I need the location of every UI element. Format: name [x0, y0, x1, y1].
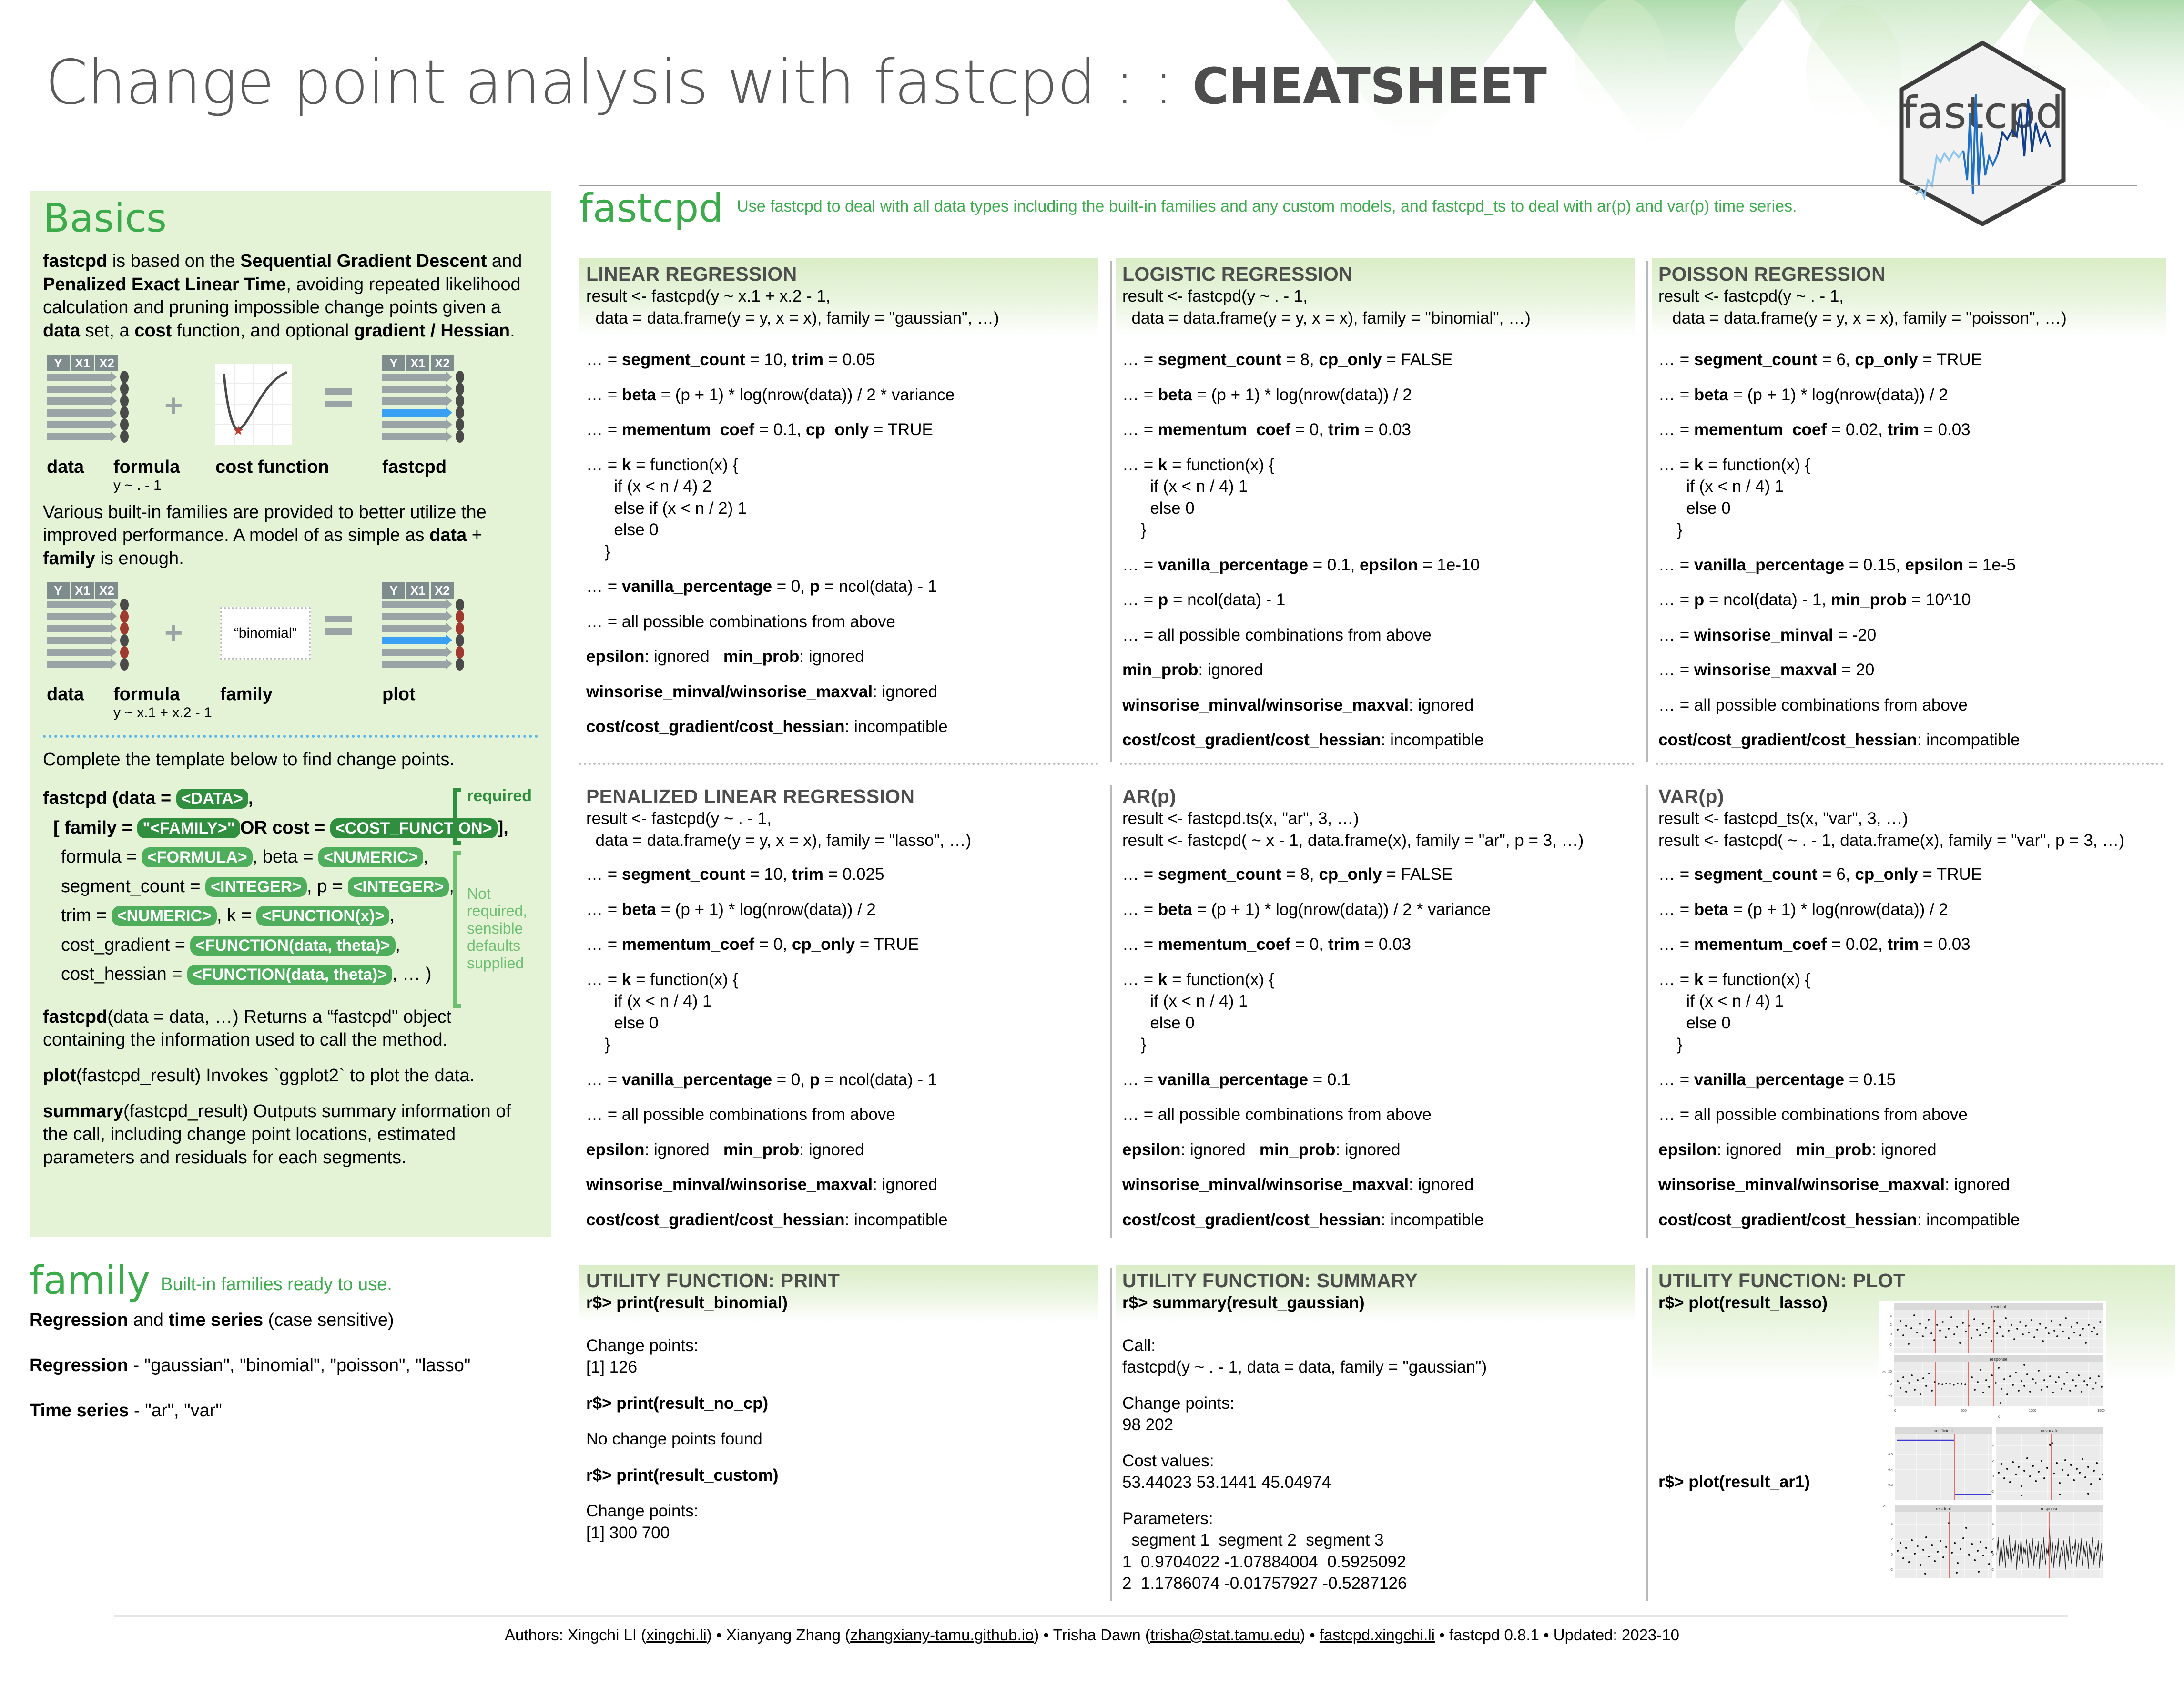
title-divider	[579, 185, 2137, 186]
panel-option: … = all possible combinations from above	[1658, 1104, 2175, 1126]
svg-text:-2: -2	[1889, 1343, 1892, 1347]
caption-formula-2: formula y ~ x.1 + x.2 - 1	[113, 684, 212, 721]
diagram-data-plus-cost: YX1X2 + ★	[43, 355, 538, 455]
print-output-2: No change points found	[586, 1428, 1098, 1450]
footer-link-trisha-email[interactable]: trisha@stat.tamu.edu	[1150, 1626, 1300, 1644]
lasso-ggplot-svg: residual 420-2 response	[1879, 1301, 2106, 1420]
svg-text:-2: -2	[1890, 1568, 1893, 1572]
panel-code: result <- fastcpd(y ~ . - 1, data = data…	[1658, 285, 2159, 329]
panel-option: winsorise_minval/winsorise_maxval: ignor…	[1122, 694, 1635, 716]
family-line-3: Time series - "ar", "var"	[30, 1401, 551, 1421]
panel-options: … = segment_count = 10, trim = 0.025… = …	[586, 864, 1098, 1230]
svg-text:y: y	[1881, 1371, 1886, 1373]
fastcpd-section-subheading: Use fastcpd to deal with all data types …	[737, 191, 1797, 216]
panel-option: … = mementum_coef = 0.02, trim = 0.03	[1658, 934, 2175, 956]
data-table-pictogram-1: YX1X2	[47, 355, 129, 443]
page-title: Change point analysis with fastcpd : : C…	[45, 52, 1808, 138]
summary-command: r$> summary(result_gaussian)	[1122, 1292, 1628, 1314]
summary-output-parameters: Parameters: segment 1 segment 2 segment …	[1122, 1508, 1635, 1595]
chip-p-integer: <INTEGER>	[348, 877, 449, 897]
panel-option: epsilon: ignored min_prob: ignored	[586, 646, 1098, 668]
svg-text:-2: -2	[1991, 1568, 1994, 1572]
chip-k-function: <FUNCTION(x)>	[256, 906, 389, 926]
template-line-1: fastcpd (data = <DATA>,	[43, 784, 538, 813]
basics-heading: Basics	[43, 199, 538, 238]
panel-option: … = mementum_coef = 0.1, cp_only = TRUE	[586, 419, 1098, 441]
panel-title: UTILITY FUNCTION: PRINT	[586, 1270, 1092, 1292]
required-bracket	[453, 788, 461, 845]
panel-option: … = mementum_coef = 0, cp_only = TRUE	[586, 934, 1098, 956]
divider-col1-col2-mid	[1110, 785, 1112, 1238]
panel-title: LOGISTIC REGRESSION	[1122, 263, 1628, 285]
data-table-pictogram-2: YX1X2	[47, 582, 129, 670]
panel-option: winsorise_minval/winsorise_maxval: ignor…	[586, 1174, 1098, 1196]
template-line-5: trim = <NUMERIC>, k = <FUNCTION(x)>,	[43, 901, 538, 931]
svg-text:0: 0	[1992, 1475, 1994, 1478]
panel-option: … = segment_count = 6, cp_only = TRUE	[1658, 864, 2175, 885]
summary-output-call: Call: fastcpd(y ~ . - 1, data = data, fa…	[1122, 1335, 1635, 1378]
panel-poisson-regression: POISSON REGRESSION result <- fastcpd(y ~…	[1658, 261, 2166, 764]
basics-paragraph-2: Various built-in families are provided t…	[43, 501, 538, 570]
panel-option: … = k = function(x) { if (x < n / 4) 2 e…	[586, 454, 1098, 563]
panel-title: VAR(p)	[1658, 785, 2175, 808]
divider-col2-col3-mid	[1646, 785, 1648, 1238]
panel-linear-regression: LINEAR REGRESSION result <- fastcpd(y ~ …	[586, 261, 1098, 751]
print-command-1: r$> print(result_binomial)	[586, 1292, 1092, 1314]
panel-title: POISSON REGRESSION	[1658, 263, 2159, 285]
svg-text:★: ★	[232, 423, 244, 438]
svg-text:0.3: 0.3	[1888, 1484, 1893, 1487]
footer-mid-1: ) • Xianyang Zhang (	[707, 1626, 850, 1644]
panel-logistic-regression: LOGISTIC REGRESSION result <- fastcpd(y …	[1122, 261, 1635, 764]
panel-option: … = k = function(x) { if (x < n / 4) 1 e…	[1122, 969, 1639, 1056]
svg-text:-2: -2	[1991, 1490, 1994, 1494]
svg-text:500: 500	[1961, 1409, 1967, 1413]
panel-code: result <- fastcpd(y ~ . - 1, data = data…	[586, 808, 1098, 851]
footer-link-fastcpd-site[interactable]: fastcpd.xingchi.li	[1320, 1626, 1435, 1644]
chip-formula: <FORMULA>	[142, 847, 253, 867]
template-line-7: cost_hessian = <FUNCTION(data, theta)>, …	[43, 960, 538, 989]
svg-text:2: 2	[1992, 1460, 1994, 1463]
panel-option: … = all possible combinations from above	[1122, 1104, 1639, 1126]
panel-title: PENALIZED LINEAR REGRESSION	[586, 785, 1098, 808]
panel-option: … = vanilla_percentage = 0.15	[1658, 1069, 2175, 1091]
panel-utility-summary: UTILITY FUNCTION: SUMMARY r$> summary(re…	[1122, 1268, 1635, 1609]
desc-summary: summary(fastcpd_result) Outputs summary …	[43, 1100, 538, 1169]
panel-options: … = segment_count = 8, cp_only = FALSE… …	[1122, 864, 1639, 1230]
required-label: required	[467, 783, 532, 809]
svg-text:4: 4	[1992, 1523, 1994, 1526]
template-line-6: cost_gradient = <FUNCTION(data, theta)>,	[43, 931, 538, 960]
panel-option: … = p = ncol(data) - 1, min_prob = 10^10	[1658, 589, 2166, 611]
panel-ar-p: AR(p) result <- fastcpd.ts(x, "ar", 3, ……	[1122, 785, 1639, 1244]
panel-option: min_prob: ignored	[1122, 659, 1635, 681]
svg-text:fastcpd: fastcpd	[1901, 87, 2063, 138]
footer-suffix: • fastcpd 0.8.1 • Updated: 2023-10	[1435, 1626, 1679, 1644]
svg-text:0.5: 0.5	[1888, 1453, 1893, 1456]
panel-option: … = all possible combinations from above	[1658, 694, 2166, 716]
panel-penalized-linear-regression: PENALIZED LINEAR REGRESSION result <- fa…	[586, 785, 1098, 1244]
panel-option: … = k = function(x) { if (x < n / 4) 1 e…	[1658, 969, 2175, 1056]
result-table-pictogram-1: YX1X2	[382, 355, 464, 443]
svg-text:response: response	[2041, 1506, 2058, 1511]
svg-text:1500: 1500	[2097, 1409, 2105, 1413]
print-command-2: r$> print(result_no_cp)	[586, 1393, 1098, 1414]
panel-option: … = segment_count = 6, cp_only = TRUE	[1658, 349, 2166, 371]
panel-option: … = beta = (p + 1) * log(nrow(data)) / 2	[1658, 384, 2166, 406]
panel-options: … = segment_count = 8, cp_only = FALSE… …	[1122, 349, 1635, 751]
print-output-3: Change points: [1] 300 700	[586, 1500, 1098, 1544]
chip-segment-count-integer: <INTEGER>	[205, 877, 307, 897]
panel-option: cost/cost_gradient/cost_hessian: incompa…	[586, 1209, 1098, 1231]
svg-text:4: 4	[1890, 1315, 1892, 1318]
title-cheatsheet: CHEATSHEET	[1192, 57, 1546, 115]
svg-text:covariate: covariate	[2041, 1428, 2059, 1433]
panel-option: … = segment_count = 8, cp_only = FALSE	[1122, 864, 1639, 885]
panel-option: … = vanilla_percentage = 0.1, epsilon = …	[1122, 554, 1635, 576]
svg-text:residual: residual	[1991, 1304, 2006, 1309]
svg-text:response: response	[1990, 1357, 2007, 1362]
divider-col2-col3-top	[1646, 261, 1648, 762]
summary-output-change-points: Change points: 98 202	[1122, 1393, 1635, 1436]
desc-plot: plot(fastcpd_result) Invokes `ggplot2` t…	[43, 1064, 538, 1088]
panel-title: LINEAR REGRESSION	[586, 263, 1092, 285]
panel-code: result <- fastcpd(y ~ . - 1, data = data…	[1122, 285, 1628, 329]
footer-divider	[114, 1615, 2068, 1617]
equals-sign-1	[325, 388, 352, 413]
panel-option: winsorise_minval/winsorise_maxval: ignor…	[1122, 1174, 1639, 1196]
panel-code: result <- fastcpd_ts(x, "var", 3, …) res…	[1658, 808, 2175, 851]
result-table-pictogram-2: YX1X2	[382, 582, 464, 670]
panel-options: … = segment_count = 6, cp_only = TRUE… =…	[1658, 864, 2175, 1230]
divider-col1-col2-top	[1110, 261, 1112, 762]
panel-options: … = segment_count = 10, trim = 0.05… = b…	[586, 349, 1098, 738]
caption-cost-function: cost function	[215, 457, 329, 478]
ar1-ggplot-svg: coefficient 0.50.40.3 covariate 420-	[1879, 1425, 2106, 1582]
panel-title: UTILITY FUNCTION: SUMMARY	[1122, 1270, 1628, 1292]
template-line-4: segment_count = <INTEGER>, p = <INTEGER>…	[43, 872, 538, 902]
family-heading: family	[30, 1263, 150, 1299]
panel-code: result <- fastcpd.ts(x, "ar", 3, …) resu…	[1122, 808, 1639, 851]
panel-option: … = beta = (p + 1) * log(nrow(data)) / 2…	[586, 384, 1098, 406]
panel-option: … = k = function(x) { if (x < n / 4) 1 e…	[1658, 454, 2166, 541]
not-required-bracket	[453, 851, 461, 1008]
svg-text:4: 4	[1891, 1523, 1893, 1526]
panel-option: … = all possible combinations from above	[1122, 624, 1635, 646]
family-line-1: Regression and time series (case sensiti…	[30, 1310, 551, 1331]
footer: Authors: Xingchi LI (xingchi.li) • Xiany…	[0, 1626, 2184, 1644]
panel-option: cost/cost_gradient/cost_hessian: incompa…	[1122, 729, 1635, 751]
fastcpd-section-heading: fastcpd	[579, 191, 723, 226]
chip-family: "<FAMILY>"	[137, 818, 240, 838]
panel-var-p: VAR(p) result <- fastcpd_ts(x, "var", 3,…	[1658, 785, 2175, 1244]
svg-text:0.4: 0.4	[1888, 1468, 1893, 1472]
chip-cost-function: <COST_FUNCTION>	[330, 818, 498, 838]
panel-utility-print: UTILITY FUNCTION: PRINT r$> print(result…	[586, 1268, 1098, 1558]
print-command-3: r$> print(result_custom)	[586, 1464, 1098, 1486]
summary-output-cost-values: Cost values: 53.44023 53.1441 45.04974	[1122, 1450, 1635, 1494]
footer-link-zhangxiany[interactable]: zhangxiany-tamu.github.io	[850, 1626, 1034, 1644]
svg-text:coefficient: coefficient	[1934, 1428, 1953, 1433]
diagram-data-plus-family: YX1X2 + “binomial" YX1X2 data	[43, 582, 538, 682]
svg-text:residual: residual	[1936, 1506, 1951, 1511]
desc-fastcpd: fastcpd(data = data, …) Returns a “fastc…	[43, 1006, 538, 1052]
svg-text:2: 2	[1890, 1323, 1892, 1327]
panel-option: … = vanilla_percentage = 0, p = ncol(dat…	[586, 1069, 1098, 1091]
not-required-label: Not required, sensible defaults supplied	[467, 885, 553, 972]
caption-data-1: data	[47, 457, 84, 478]
svg-text:2: 2	[1992, 1538, 1994, 1541]
hsep-linear	[579, 763, 1098, 765]
panel-option: … = beta = (p + 1) * log(nrow(data)) / 2	[586, 899, 1098, 921]
panel-option: … = k = function(x) { if (x < n / 4) 1 e…	[586, 969, 1098, 1056]
panel-option: … = beta = (p + 1) * log(nrow(data)) / 2	[1658, 899, 2175, 921]
chip-cost-gradient-function: <FUNCTION(data, theta)>	[190, 936, 395, 956]
svg-text:0: 0	[1891, 1553, 1893, 1556]
svg-text:0: 0	[1894, 1409, 1896, 1413]
chip-data: <DATA>	[176, 789, 248, 809]
plus-sign-1: +	[164, 389, 183, 421]
family-subheading: Built-in families ready to use.	[161, 1274, 392, 1299]
svg-text:y: y	[1882, 1505, 1886, 1507]
panel-option: … = vanilla_percentage = 0.1	[1122, 1069, 1639, 1091]
panel-option: … = p = ncol(data) - 1	[1122, 589, 1635, 611]
panel-option: … = mementum_coef = 0.02, trim = 0.03	[1658, 419, 2166, 441]
template-intro: Complete the template below to find chan…	[43, 748, 538, 772]
panel-option: cost/cost_gradient/cost_hessian: incompa…	[586, 716, 1098, 738]
plot-thumbnail-lasso: residual 420-2 response	[1879, 1301, 2106, 1420]
template-line-3: formula = <FORMULA>, beta = <NUMERIC>,	[43, 843, 538, 872]
equals-sign-2	[325, 616, 352, 641]
cost-function-plot: ★	[215, 364, 292, 445]
plot-thumbnail-ar1: coefficient 0.50.40.3 covariate 420-	[1879, 1425, 2106, 1582]
divider-col2-col3-bottom	[1646, 1268, 1648, 1601]
basics-paragraph-1: fastcpd is based on the Sequential Gradi…	[43, 250, 538, 343]
panel-option: … = all possible combinations from above	[586, 611, 1098, 633]
panel-option: cost/cost_gradient/cost_hessian: incompa…	[1122, 1209, 1639, 1231]
template-line-2: [ family = "<FAMILY>"OR cost = <COST_FUN…	[43, 813, 538, 843]
panel-option: winsorise_minval/winsorise_maxval: ignor…	[1658, 1174, 2175, 1196]
panel-option: … = all possible combinations from above	[586, 1104, 1098, 1126]
panel-option: cost/cost_gradient/cost_hessian: incompa…	[1658, 1209, 2175, 1231]
panel-option: winsorise_minval/winsorise_maxval: ignor…	[586, 681, 1098, 703]
caption-data-2: data	[47, 684, 84, 705]
panel-code: result <- fastcpd(y ~ x.1 + x.2 - 1, dat…	[586, 285, 1092, 329]
print-output-1: Change points: [1] 126	[586, 1335, 1098, 1378]
family-panel: family Built-in families ready to use. R…	[30, 1263, 551, 1421]
panel-option: … = vanilla_percentage = 0.15, epsilon =…	[1658, 554, 2166, 576]
chip-trim-numeric: <NUMERIC>	[112, 906, 217, 926]
panel-option: … = winsorise_maxval = 20	[1658, 659, 2166, 681]
fastcpd-template: fastcpd (data = <DATA>, [ family = "<FAM…	[43, 784, 538, 989]
svg-text:20: 20	[1888, 1370, 1892, 1373]
svg-text:0: 0	[1890, 1383, 1892, 1386]
svg-text:0: 0	[1992, 1553, 1994, 1556]
svg-text:4: 4	[1992, 1444, 1994, 1448]
panel-option: … = mementum_coef = 0, trim = 0.03	[1122, 419, 1635, 441]
footer-mid-2: ) • Trisha Dawn (	[1034, 1626, 1150, 1644]
panel-option: epsilon: ignored min_prob: ignored	[586, 1139, 1098, 1161]
footer-link-xingchi[interactable]: xingchi.li	[646, 1626, 707, 1644]
panel-option: … = mementum_coef = 0, trim = 0.03	[1122, 934, 1639, 956]
panel-option: … = segment_count = 10, trim = 0.025	[586, 864, 1098, 885]
fastcpd-section-header: fastcpd Use fastcpd to deal with all dat…	[579, 191, 2137, 226]
divider-col1-col2-bottom	[1110, 1268, 1112, 1601]
panel-title: UTILITY FUNCTION: PLOT	[1658, 1270, 2169, 1292]
svg-text:0: 0	[1890, 1333, 1892, 1336]
panel-option: cost/cost_gradient/cost_hessian: incompa…	[1658, 729, 2166, 751]
caption-fastcpd-1: fastcpd	[382, 457, 447, 478]
caption-plot: plot	[382, 684, 416, 705]
caption-family: family	[220, 684, 273, 705]
panel-option: … = k = function(x) { if (x < n / 4) 1 e…	[1122, 454, 1635, 541]
panel-option: … = segment_count = 10, trim = 0.05	[586, 349, 1098, 371]
family-line-2: Regression - "gaussian", "binomial", "po…	[30, 1355, 551, 1376]
panel-option: epsilon: ignored min_prob: ignored	[1122, 1139, 1639, 1161]
basics-panel: Basics fastcpd is based on the Sequentia…	[30, 191, 551, 1237]
panel-option: … = beta = (p + 1) * log(nrow(data)) / 2	[1122, 384, 1635, 406]
panel-title: AR(p)	[1122, 785, 1639, 808]
chip-beta-numeric: <NUMERIC>	[318, 847, 423, 867]
svg-text:1000: 1000	[2029, 1409, 2036, 1413]
panel-option: … = beta = (p + 1) * log(nrow(data)) / 2…	[1122, 899, 1639, 921]
footer-mid-3: ) •	[1300, 1626, 1320, 1644]
chip-cost-hessian-function: <FUNCTION(data, theta)>	[187, 965, 392, 985]
svg-text:2: 2	[1891, 1538, 1893, 1541]
family-value-box: “binomial"	[220, 607, 311, 660]
footer-prefix: Authors: Xingchi LI (	[505, 1626, 646, 1644]
panel-option: … = winsorise_minval = -20	[1658, 624, 2166, 646]
plus-sign-2: +	[164, 617, 183, 648]
svg-text:-20: -20	[1887, 1395, 1892, 1398]
title-text: Change point analysis with fastcpd : :	[45, 47, 1192, 118]
panel-option: … = segment_count = 8, cp_only = FALSE	[1122, 349, 1635, 371]
panel-option: … = vanilla_percentage = 0, p = ncol(dat…	[586, 576, 1098, 598]
svg-text:x: x	[1998, 1414, 2000, 1419]
caption-formula-1: formula y ~ . - 1	[113, 457, 180, 494]
panel-option: epsilon: ignored min_prob: ignored	[1658, 1139, 2175, 1161]
panel-options: … = segment_count = 6, cp_only = TRUE… =…	[1658, 349, 2166, 751]
basics-dotted-separator	[43, 735, 538, 738]
